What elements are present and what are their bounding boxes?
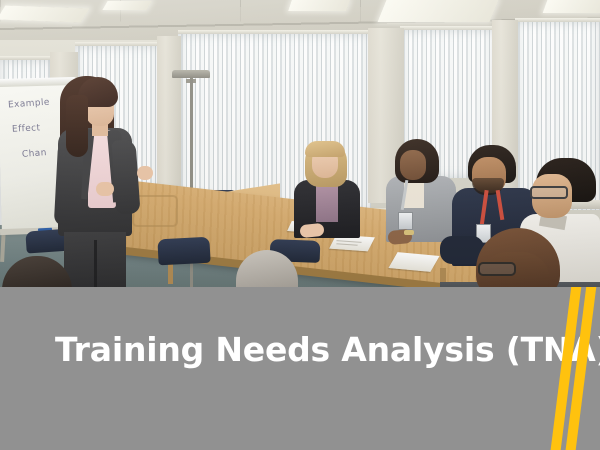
ceiling-light-panel xyxy=(543,0,600,13)
eyeglasses xyxy=(478,262,516,276)
presenter-arm xyxy=(111,139,140,214)
participant-shirt xyxy=(316,182,338,222)
floor-lamp-shade xyxy=(172,70,210,78)
participant-fringe xyxy=(305,141,345,157)
eyeglasses xyxy=(530,186,568,199)
ceiling-light-panel xyxy=(288,0,350,11)
office-chair xyxy=(157,237,210,266)
participant-face xyxy=(400,150,426,180)
ceiling-light-panel xyxy=(378,0,499,22)
presenter-hand xyxy=(96,182,114,196)
slide-canvas: Example Effect Chan xyxy=(0,0,600,450)
wristwatch xyxy=(404,230,414,235)
flipchart-line-3: Chan xyxy=(22,148,47,160)
flipchart-line-2: Effect xyxy=(12,123,41,134)
ceiling-light-panel xyxy=(0,5,89,22)
title-band: Training Needs Analysis (TNA) xyxy=(0,287,600,450)
presenter-hand xyxy=(137,166,153,180)
slide-title: Training Needs Analysis (TNA) xyxy=(55,333,600,366)
presenter-trouser-seam xyxy=(94,240,97,290)
header-photograph: Example Effect Chan xyxy=(0,0,600,300)
ceiling-light-panel xyxy=(102,1,151,10)
presenter-hair-side xyxy=(66,95,88,157)
id-badge xyxy=(398,212,413,230)
